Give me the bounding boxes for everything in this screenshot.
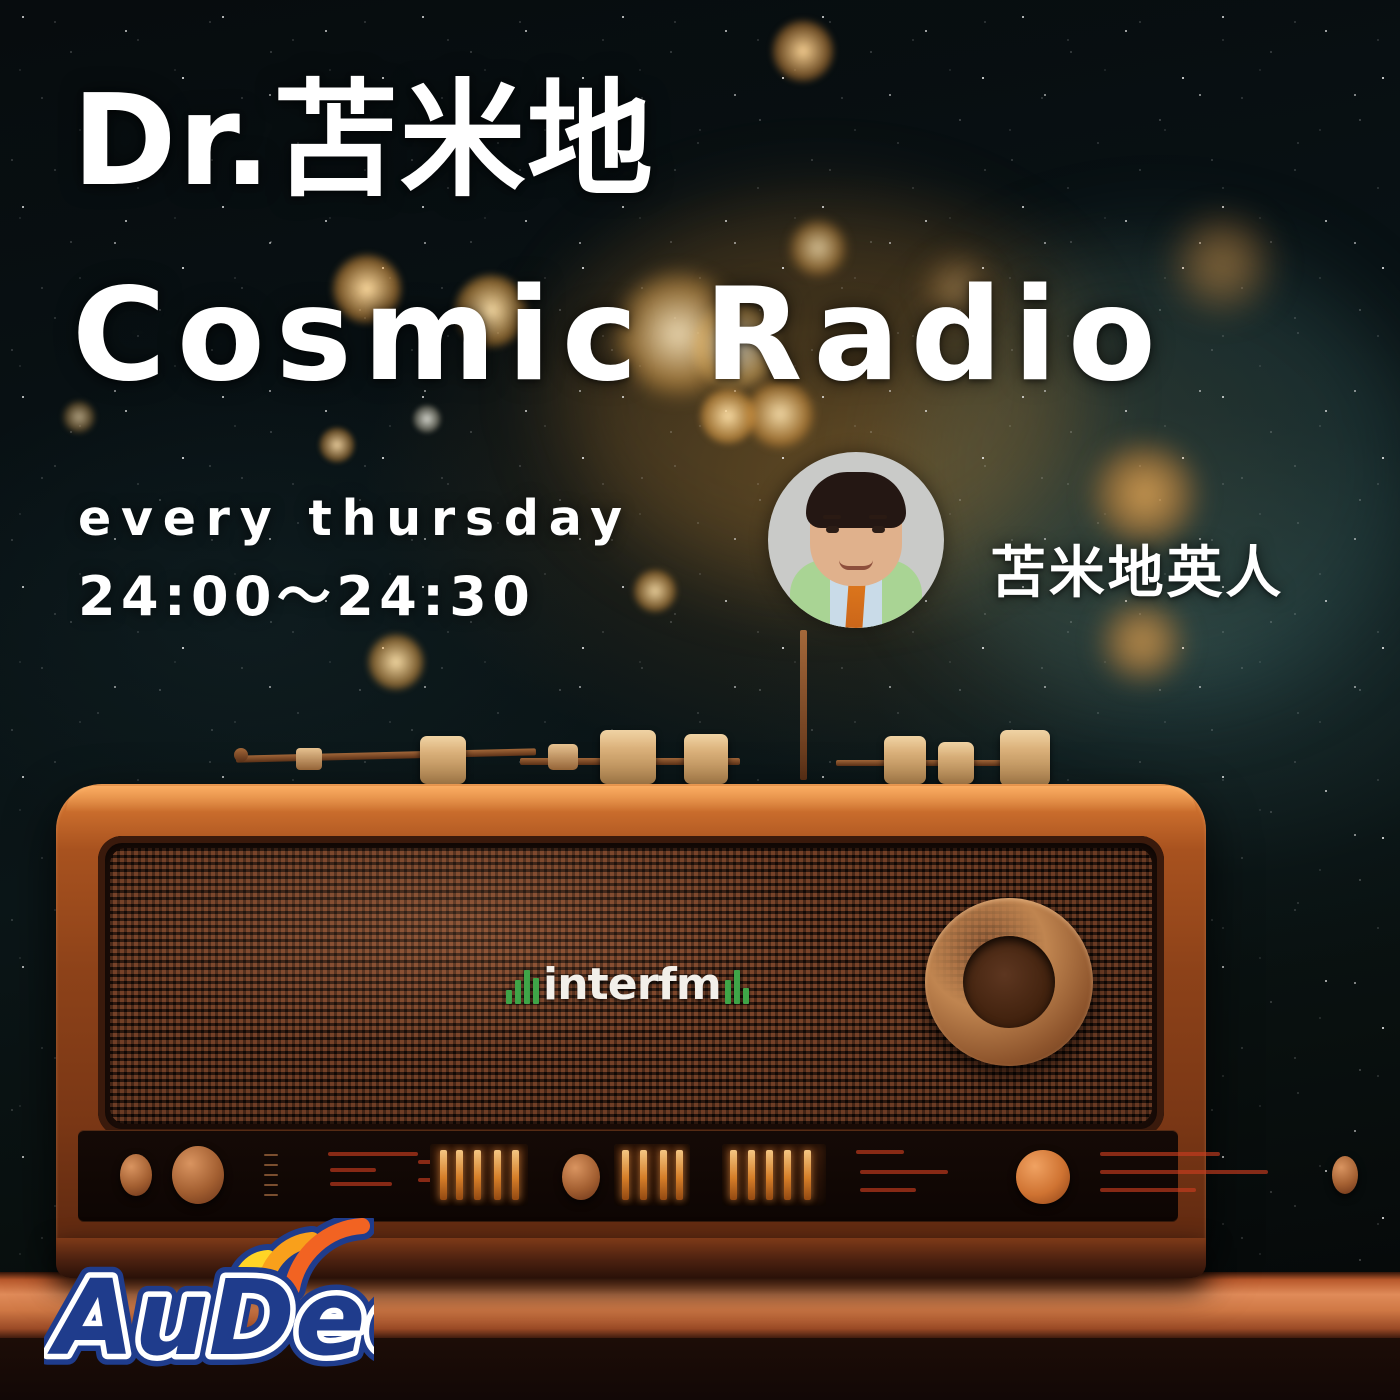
signal-bars-icon (725, 964, 749, 1004)
tuning-dial-3[interactable] (722, 1144, 826, 1206)
antenna-stub-1 (296, 748, 322, 770)
avatar-eye-right (872, 526, 885, 533)
antenna-mast (800, 630, 807, 780)
top-button-4[interactable] (884, 736, 926, 784)
avatar-eyebrow-right (869, 515, 887, 519)
schedule-day: every thursday (78, 490, 632, 547)
podcast-cover-art: Dr.苫米地 Cosmic Radio every thursday 24:00… (0, 0, 1400, 1400)
panel-knob-3[interactable] (562, 1154, 600, 1200)
radio-top-highlight (66, 786, 1196, 812)
antenna-tip (234, 748, 248, 762)
top-button-5[interactable] (938, 742, 974, 784)
panel-marking (860, 1170, 948, 1174)
panel-knob-2[interactable] (172, 1146, 224, 1204)
audee-logo[interactable]: AuDee AuDee AuDee AuDee (44, 1218, 374, 1386)
panel-tick (264, 1194, 278, 1196)
top-button-3[interactable] (684, 734, 728, 784)
tuning-knob-center (963, 936, 1055, 1028)
svg-text:AuDee: AuDee (47, 1257, 374, 1379)
tuning-knob-icon[interactable] (925, 898, 1093, 1066)
panel-tick (264, 1164, 278, 1166)
avatar-hair (806, 472, 906, 528)
panel-marking (856, 1150, 904, 1154)
panel-marking (1100, 1152, 1220, 1156)
interfm-wordmark: interfm (543, 966, 721, 1004)
panel-tick (264, 1184, 278, 1186)
panel-tick (264, 1174, 278, 1176)
audee-wordmark-graphic: AuDee AuDee AuDee (47, 1257, 374, 1379)
avatar (768, 452, 944, 628)
top-button-1[interactable] (420, 736, 466, 784)
panel-marking (328, 1152, 418, 1156)
panel-marking (860, 1188, 916, 1192)
panel-marking (330, 1168, 376, 1172)
panel-marking (1100, 1188, 1196, 1192)
panel-marking (1100, 1170, 1268, 1174)
host-name: 苫米地英人 (990, 528, 1284, 609)
page-title-line2: Cosmic Radio (72, 272, 1167, 400)
panel-tick (264, 1154, 278, 1156)
page-title-line1: Dr.苫米地 (72, 78, 654, 204)
antenna-stub-2 (548, 744, 578, 770)
schedule-time: 24:00～24:30 (78, 552, 535, 631)
panel-knob-4[interactable] (1016, 1150, 1070, 1204)
avatar-eye-left (826, 526, 839, 533)
panel-knob-5[interactable] (1332, 1156, 1358, 1194)
tuning-dial-2[interactable] (614, 1144, 690, 1206)
avatar-mouth (839, 560, 873, 570)
top-button-6[interactable] (1000, 730, 1050, 786)
signal-bars-icon (506, 964, 539, 1004)
panel-knob-1[interactable] (120, 1154, 152, 1196)
interfm-logo: interfm (506, 964, 749, 1004)
tuning-dial-1[interactable] (430, 1144, 528, 1206)
top-button-2[interactable] (600, 730, 656, 784)
control-panel (78, 1130, 1178, 1222)
panel-marking (330, 1182, 392, 1186)
audee-logo-graphic: AuDee AuDee AuDee (44, 1218, 374, 1386)
avatar-eyebrow-left (823, 515, 841, 519)
